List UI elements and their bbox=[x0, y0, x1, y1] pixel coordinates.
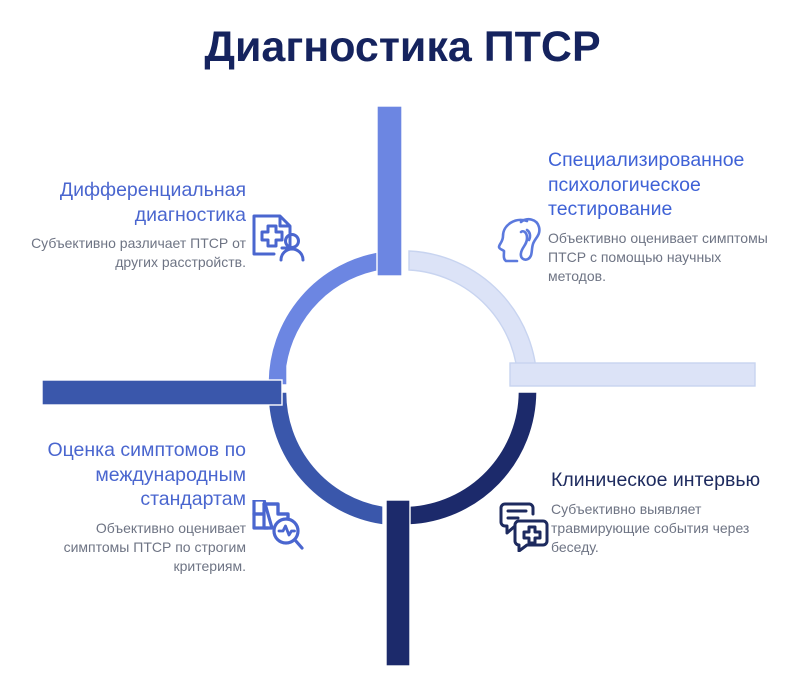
segmented-ring-diagram bbox=[0, 0, 805, 685]
connector-bottom-right bbox=[386, 500, 410, 666]
item-clinical-interview: Клиническое интервью Субъективно выявляе… bbox=[551, 468, 781, 558]
connector-bottom-left bbox=[42, 380, 282, 405]
head-brain-icon bbox=[497, 214, 547, 271]
item-heading: Оценка симптомов по международным станда… bbox=[30, 438, 246, 512]
item-specialized-testing: Специализированное психологическое тести… bbox=[548, 148, 776, 287]
chat-medical-cross-icon bbox=[497, 500, 551, 557]
item-body: Субъективно выявляет травмирующие событи… bbox=[551, 500, 781, 558]
item-heading: Клиническое интервью bbox=[551, 468, 781, 493]
arc-top-left bbox=[268, 251, 383, 385]
item-heading: Специализированное психологическое тести… bbox=[548, 148, 776, 222]
item-differential-diagnosis: Дифференциальная диагностика Субъективно… bbox=[20, 178, 246, 273]
cross-magnifier-pulse-icon bbox=[250, 500, 306, 557]
connector-top-right bbox=[510, 363, 755, 386]
connector-top-left bbox=[377, 106, 402, 276]
item-body: Объективно оценивает симптомы ПТСР с пом… bbox=[548, 229, 776, 287]
item-international-standards: Оценка симптомов по международным станда… bbox=[30, 438, 246, 577]
item-body: Субъективно различает ПТСР от других рас… bbox=[20, 234, 246, 273]
item-heading: Дифференциальная диагностика bbox=[20, 178, 246, 227]
medical-document-person-icon bbox=[250, 212, 306, 269]
item-body: Объективно оценивает симптомы ПТСР по ст… bbox=[30, 519, 246, 577]
infographic-root: Диагностика ПТСР Дифференциальная диагно… bbox=[0, 0, 805, 685]
